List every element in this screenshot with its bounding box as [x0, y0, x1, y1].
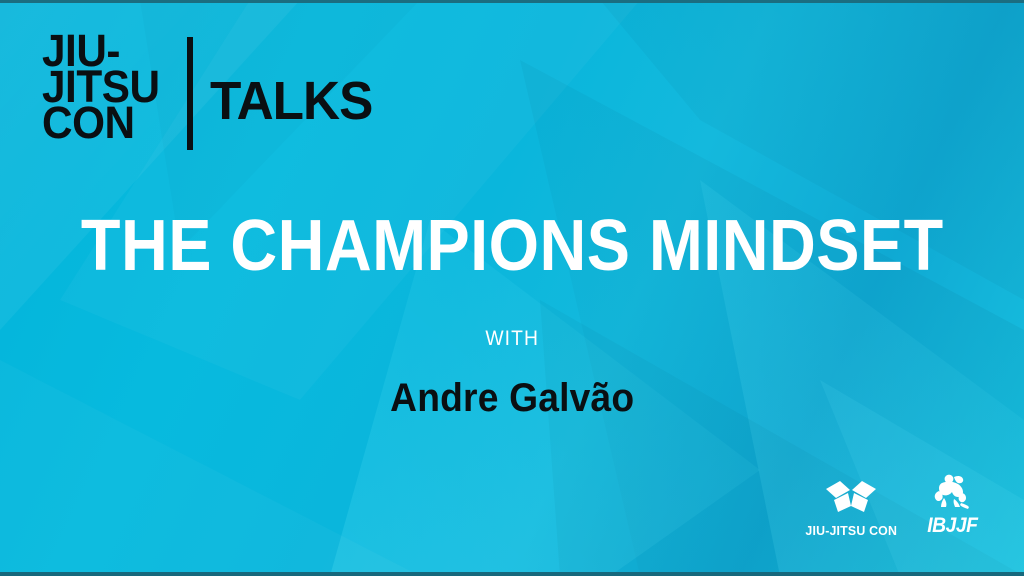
speaker-name-text: Andre Galvão — [390, 376, 634, 421]
jiu-jitsu-con-wordmark: JIU- JITSU CON — [42, 33, 167, 141]
speaker-name: Andre Galvão — [0, 376, 1024, 421]
with-label: WITH — [0, 327, 1024, 351]
top-edge-bar — [0, 0, 1024, 3]
page-title: THE CHAMPIONS MINDSET — [0, 210, 1024, 282]
title-slide: JIU- JITSU CON TALKS THE CHAMPIONS MINDS… — [0, 0, 1024, 576]
brand-line-3: CON — [42, 105, 160, 141]
brand-lockup: JIU- JITSU CON TALKS — [42, 33, 381, 150]
footer-logos: JIU-JITSU CON IBJJF — [803, 472, 980, 538]
jiu-jitsu-con-logo: JIU-JITSU CON — [803, 478, 900, 538]
vertical-divider-icon — [187, 37, 193, 150]
jiu-jitsu-con-box-icon — [820, 478, 882, 518]
page-title-text: THE CHAMPIONS MINDSET — [81, 210, 944, 282]
bottom-edge-bar — [0, 572, 1024, 576]
ibjjf-logo-label: IBJJF — [928, 514, 978, 538]
with-label-text: WITH — [485, 327, 539, 351]
talks-wordmark: TALKS — [210, 70, 372, 132]
ibjjf-logo: IBJJF — [925, 472, 980, 538]
jiu-jitsu-con-logo-label: JIU-JITSU CON — [805, 523, 897, 538]
ibjjf-grappler-icon — [930, 472, 976, 512]
